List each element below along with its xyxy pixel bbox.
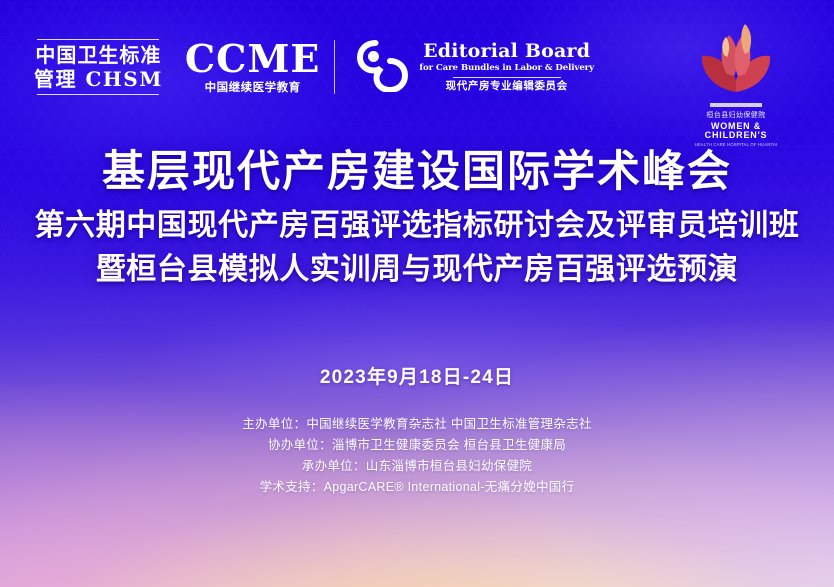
organizer-label: 学术支持： xyxy=(260,480,324,494)
editorial-board-rule xyxy=(453,77,561,78)
flower-icon xyxy=(693,83,779,100)
hospital-name-en: WOMEN & CHILDREN'S xyxy=(680,122,792,140)
hospital-logo-bar xyxy=(710,103,762,107)
logo-divider xyxy=(334,40,335,94)
hospital-logo: 桓台县妇幼保健院 WOMEN & CHILDREN'S HEALTH CARE … xyxy=(680,22,792,147)
organizer-list: 主办单位：中国继续医学教育杂志社 中国卫生标准管理杂志社 协办单位：淄博市卫生健… xyxy=(0,414,834,498)
organizer-value: 淄博市卫生健康委员会 桓台县卫生健康局 xyxy=(332,438,566,452)
title-subline-1: 第六期中国现代产房百强评选指标研讨会及评审员培训班 xyxy=(0,208,834,244)
hospital-name-cn: 桓台县妇幼保健院 xyxy=(680,112,792,119)
chsm-line1: 中国卫生标准 xyxy=(35,45,161,65)
event-date: 2023年9月18日-24日 xyxy=(0,362,834,389)
organizer-value: 山东淄博市桓台县妇幼保健院 xyxy=(366,459,532,473)
ccme-subtitle: 中国继续医学教育 xyxy=(205,83,301,95)
editorial-board-line2: for Care Bundles in Labor & Delivery xyxy=(419,64,594,73)
title-block: 基层现代产房建设国际学术峰会 第六期中国现代产房百强评选指标研讨会及评审员培训班… xyxy=(0,148,834,288)
ccme-acronym: CCME xyxy=(185,40,321,78)
conference-poster: 中国卫生标准 管理 CHSM CCME 中国继续医学教育 Editorial B… xyxy=(0,0,834,587)
heart-icon xyxy=(357,38,409,97)
ccme-logo: CCME 中国继续医学教育 xyxy=(185,40,321,95)
organizer-row: 协办单位：淄博市卫生健康委员会 桓台县卫生健康局 xyxy=(0,435,834,456)
organizer-value: 中国继续医学教育杂志社 中国卫生标准管理杂志社 xyxy=(306,417,591,431)
title-subline-2: 暨桓台县模拟人实训周与现代产房百强评选预演 xyxy=(0,252,834,288)
chsm-rule-top xyxy=(37,39,159,40)
organizer-label: 协办单位： xyxy=(268,438,332,452)
chsm-rule-bottom xyxy=(37,94,159,95)
organizer-label: 主办单位： xyxy=(242,417,306,431)
organizer-value: ApgarCARE® International-无痛分娩中国行 xyxy=(324,480,575,494)
header-logo-group: 中国卫生标准 管理 CHSM CCME 中国继续医学教育 Editorial B… xyxy=(34,30,594,104)
organizer-row: 承办单位：山东淄博市桓台县妇幼保健院 xyxy=(0,456,834,477)
editorial-board-line3: 现代产房专业编辑委员会 xyxy=(446,81,568,92)
organizer-row: 主办单位：中国继续医学教育杂志社 中国卫生标准管理杂志社 xyxy=(0,414,834,435)
editorial-board-line1: Editorial Board xyxy=(423,41,590,62)
chsm-logo: 中国卫生标准 管理 CHSM xyxy=(34,39,163,95)
organizer-label: 承办单位： xyxy=(302,459,366,473)
chsm-line2: 管理 CHSM xyxy=(34,69,163,89)
editorial-board-logo: Editorial Board for Care Bundles in Labo… xyxy=(419,41,594,92)
organizer-row: 学术支持：ApgarCARE® International-无痛分娩中国行 xyxy=(0,477,834,498)
page-title: 基层现代产房建设国际学术峰会 xyxy=(0,148,834,196)
hospital-tagline: HEALTH CARE HOSPITAL OF HUANTAI xyxy=(680,143,792,147)
